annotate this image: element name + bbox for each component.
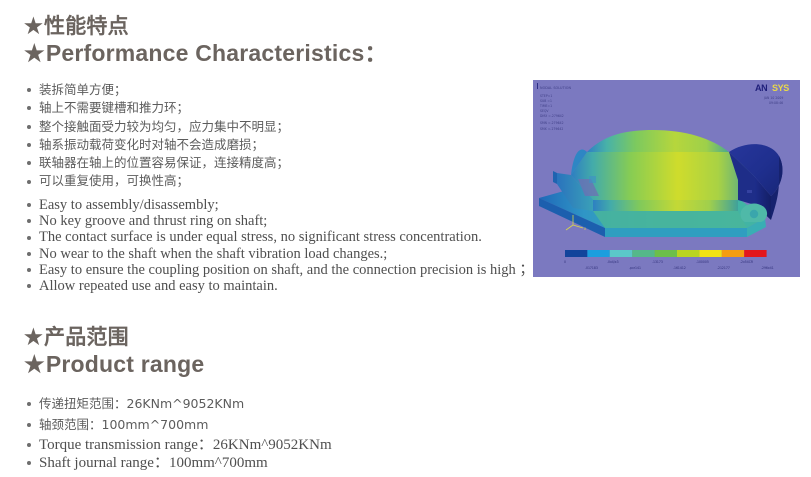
product-range-heading-en-text: Product range	[46, 351, 205, 377]
performance-bullets-cn: 装拆简单方便； 轴上不需要键槽和推力环； 整个接触面受力较为均匀，应力集中不明显…	[26, 81, 289, 191]
svg-text:TIME=1: TIME=1	[539, 104, 552, 108]
star-icon: ★	[24, 350, 45, 379]
svg-text:.100005: .100005	[696, 260, 709, 264]
list-item: 装拆简单方便；	[26, 81, 289, 99]
product-range-bullets-en: Torque transmission range：26KNm^9052KNm …	[26, 436, 332, 472]
list-item: 可以重复使用，可换性高；	[26, 172, 289, 190]
list-item: The contact surface is under equal stres…	[26, 229, 534, 245]
list-item: Easy to assembly/disassembly;	[26, 197, 534, 213]
svg-text:X: X	[584, 227, 586, 231]
product-range-heading-cn: ★产品范围	[24, 325, 204, 350]
list-item: Allow repeated use and easy to maintain.	[26, 278, 534, 294]
svg-text:.017183: .017183	[585, 266, 598, 270]
fea-contour-plot: NODAL SOLUTION STEP=1 SUB =1 TIME=1 SEQV…	[533, 80, 800, 277]
svg-text:NODAL SOLUTION: NODAL SOLUTION	[540, 86, 571, 90]
svg-text:.0x4/x3: .0x4/x3	[607, 260, 619, 264]
svg-text:SYS: SYS	[772, 83, 789, 93]
list-item: Easy to ensure the coupling position on …	[26, 262, 534, 278]
product-range-heading-cn-text: 产品范围	[44, 326, 129, 349]
performance-heading-cn: ★性能特点	[24, 14, 388, 39]
list-item: Shaft journal range：100mm^700mm	[26, 454, 332, 472]
list-item: 联轴器在轴上的位置容易保证，连接精度高；	[26, 154, 289, 172]
list-item: No wear to the shaft when the shaft vibr…	[26, 246, 534, 262]
svg-text:09:08:46: 09:08:46	[769, 101, 783, 105]
list-item: 整个接触面受力较为均匀，应力集中不明显；	[26, 118, 289, 136]
product-range-heading-block: ★产品范围 ★Product range	[24, 325, 204, 379]
star-icon: ★	[24, 14, 43, 39]
svg-text:0: 0	[564, 260, 566, 264]
svg-text:SMN =.279642: SMN =.279642	[540, 121, 564, 125]
list-item: 轴上不需要键槽和推力环；	[26, 99, 289, 117]
svg-text:DMX =.279642: DMX =.279642	[540, 114, 564, 118]
list-item: Torque transmission range：26KNm^9052KNm	[26, 436, 332, 454]
list-item: 轴系振动载荷变化时对轴不会造成磨损；	[26, 136, 289, 154]
svg-text:SUB =1: SUB =1	[540, 99, 552, 103]
svg-text:.212177: .212177	[717, 266, 730, 270]
list-item: 传递扭矩范围：26KNm^9052KNm	[26, 393, 244, 414]
performance-heading-en: ★Performance Characteristics：	[24, 39, 388, 68]
product-range-heading-en: ★Product range	[24, 350, 204, 379]
svg-text:AN: AN	[755, 83, 767, 93]
star-icon: ★	[24, 39, 45, 68]
svg-text:.2x54CR: .2x54CR	[740, 260, 754, 264]
svg-text:SEQV: SEQV	[540, 109, 549, 113]
ansys-fea-figure: NODAL SOLUTION STEP=1 SUB =1 TIME=1 SEQV…	[533, 80, 800, 277]
performance-heading-cn-text: 性能特点	[44, 15, 129, 38]
svg-text:SMX =.279642: SMX =.279642	[540, 127, 563, 131]
list-item: 轴颈范围：100mm^700mm	[26, 414, 244, 435]
list-item: No key groove and thrust ring on shaft;	[26, 213, 534, 229]
svg-text:JAN 10 2009: JAN 10 2009	[763, 96, 783, 100]
performance-heading-en-text: Performance Characteristics：	[46, 40, 388, 66]
svg-text:STEP=1: STEP=1	[540, 94, 552, 98]
svg-text:.13173: .13173	[652, 260, 663, 264]
performance-bullets-en: Easy to assembly/disassembly; No key gro…	[26, 197, 534, 294]
star-icon: ★	[24, 325, 43, 350]
product-range-bullets-cn: 传递扭矩范围：26KNm^9052KNm 轴颈范围：100mm^700mm	[26, 393, 244, 435]
svg-text:.pxr141: .pxr141	[629, 266, 641, 270]
performance-heading-block: ★性能特点 ★Performance Characteristics：	[24, 14, 388, 68]
svg-text:.161412: .161412	[673, 266, 686, 270]
svg-text:.296x41: .296x41	[761, 266, 774, 270]
